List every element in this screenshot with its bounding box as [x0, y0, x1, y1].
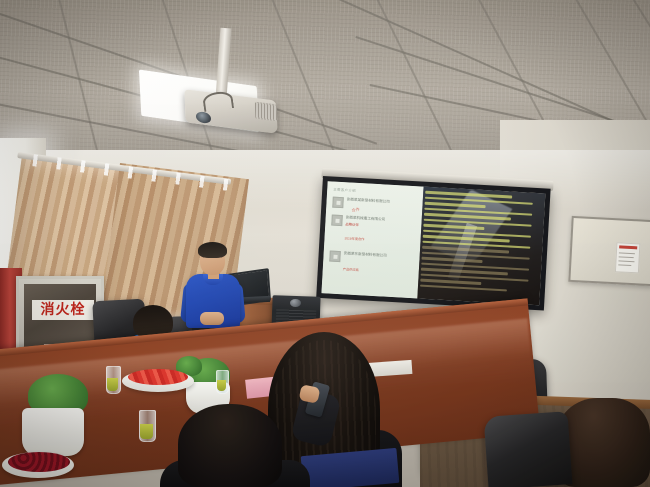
slide-note: 战略伙伴: [345, 222, 385, 229]
slide-surface: 主要客户介绍 安徽某某新型材料有限公司 合作 安徽某机械重工有限公司 战略伙伴 …: [321, 181, 545, 305]
tea-liquid: [140, 424, 153, 439]
slide-bullet-icon: [331, 215, 343, 227]
foreground-person-left-hair: [178, 404, 282, 487]
presenter-hair: [198, 242, 227, 258]
slide-left-column: 主要客户介绍 安徽某某新型材料有限公司 合作 安徽某机械重工有限公司 战略伙伴 …: [321, 181, 423, 298]
wall-whiteboard: [568, 216, 650, 286]
notice-header-bar: [619, 245, 637, 249]
slide-note: 产品供应商: [343, 267, 359, 272]
conference-room-photo: 主要客户介绍 安徽某某新型材料有限公司 合作 安徽某机械重工有限公司 战略伙伴 …: [0, 0, 650, 487]
posted-notice-sheet: [615, 242, 641, 273]
slide-heading: 主要客户介绍: [333, 187, 419, 197]
projection-screen[interactable]: 主要客户介绍 安徽某某新型材料有限公司 合作 安徽某机械重工有限公司 战略伙伴 …: [316, 176, 550, 311]
slide-bullet-icon: [332, 197, 344, 209]
slide-bullet-2: 安徽某机械重工有限公司 战略伙伴 2019年度合作: [330, 215, 417, 249]
plant-pot: [22, 408, 84, 456]
amplifier-knob[interactable]: [290, 299, 301, 307]
watermelon-slices: [128, 369, 188, 385]
slide-bullet-text: 安徽某东新型材料有限公司: [344, 252, 387, 260]
slide-bullet-3: 安徽某东新型材料有限公司 产品供应商: [329, 251, 416, 279]
presenter-hands: [200, 312, 224, 325]
fire-hydrant-sign: 消火栓: [32, 300, 94, 320]
projector-vent: [255, 102, 278, 122]
slide-bullet-icon: [329, 251, 341, 263]
cherries: [8, 452, 70, 472]
slide-bullet-text: 安徽某某新型材料有限公司: [347, 197, 390, 205]
slide-right-photo-panel: [417, 187, 545, 306]
tea-liquid: [217, 380, 226, 391]
slide-note-secondary: 2019年度合作: [344, 237, 364, 242]
office-chair[interactable]: [484, 411, 573, 487]
slide-body-text-block: [420, 191, 543, 300]
tea-liquid: [107, 378, 118, 391]
slide-bullet-1: 安徽某某新型材料有限公司: [332, 197, 418, 213]
